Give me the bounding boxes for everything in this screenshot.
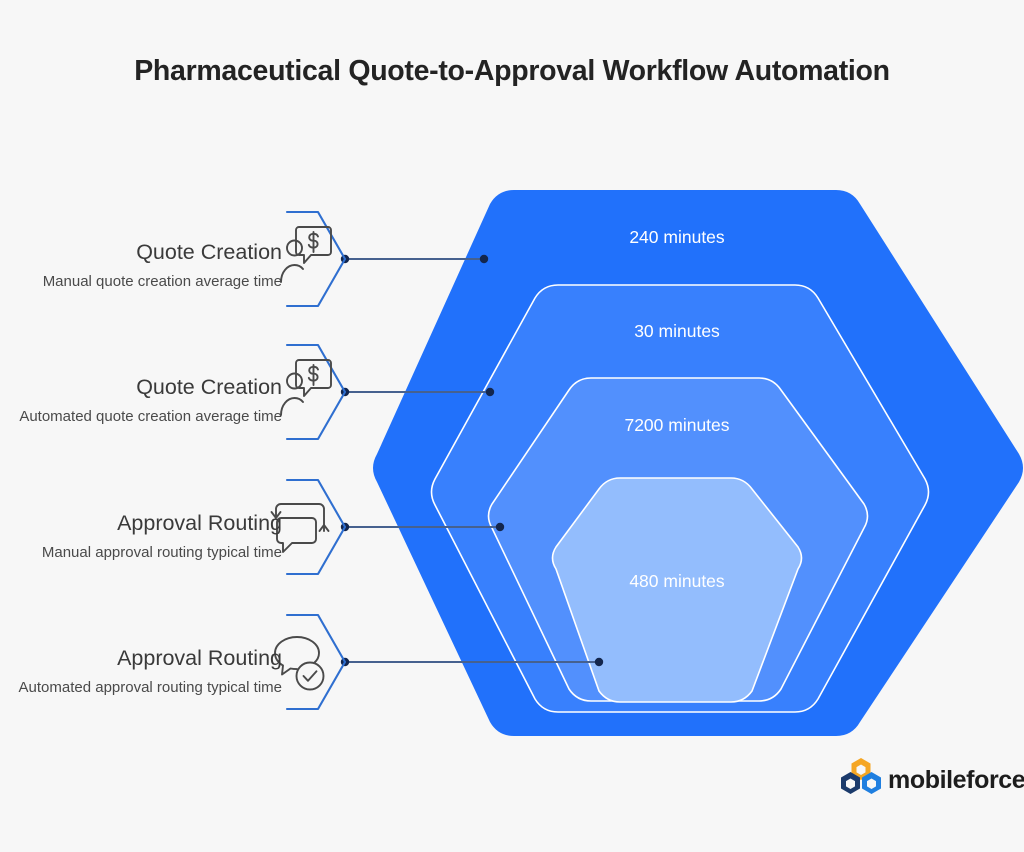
row-subtitle-4: Automated approval routing typical time [0, 678, 282, 698]
row-label-4: Approval Routing Automated approval rout… [0, 646, 290, 698]
row-subtitle-2: Automated quote creation average time [0, 407, 282, 427]
row-title-1: Quote Creation [0, 240, 282, 265]
mobileforce-logo: mobileforce [838, 757, 1003, 803]
hex-value-4: 480 minutes [629, 571, 724, 592]
row-label-3: Approval Routing Manual approval routing… [0, 511, 290, 563]
row-title-4: Approval Routing [0, 646, 282, 671]
connector-dot-right-4 [595, 658, 603, 666]
connector-dot-right-3 [496, 523, 504, 531]
mobileforce-logo-mark [838, 757, 884, 799]
hex-value-2: 30 minutes [634, 321, 720, 342]
check-circle [297, 663, 324, 690]
row-title-3: Approval Routing [0, 511, 282, 536]
row-title-2: Quote Creation [0, 375, 282, 400]
hex-value-1: 240 minutes [629, 227, 724, 248]
row-subtitle-3: Manual approval routing typical time [0, 543, 282, 563]
row-label-1: Quote Creation Manual quote creation ave… [0, 240, 290, 292]
connector-dot-right-2 [486, 388, 494, 396]
hex-value-3: 7200 minutes [624, 415, 729, 436]
bracket-group [287, 212, 345, 709]
infographic-root: Pharmaceutical Quote-to-Approval Workflo… [0, 0, 1024, 852]
row-label-2: Quote Creation Automated quote creation … [0, 375, 290, 427]
mobileforce-wordmark: mobileforce [888, 766, 1024, 795]
connector-dot-right-1 [480, 255, 488, 263]
hexagon-stack [373, 190, 1023, 736]
row-subtitle-1: Manual quote creation average time [0, 272, 282, 292]
